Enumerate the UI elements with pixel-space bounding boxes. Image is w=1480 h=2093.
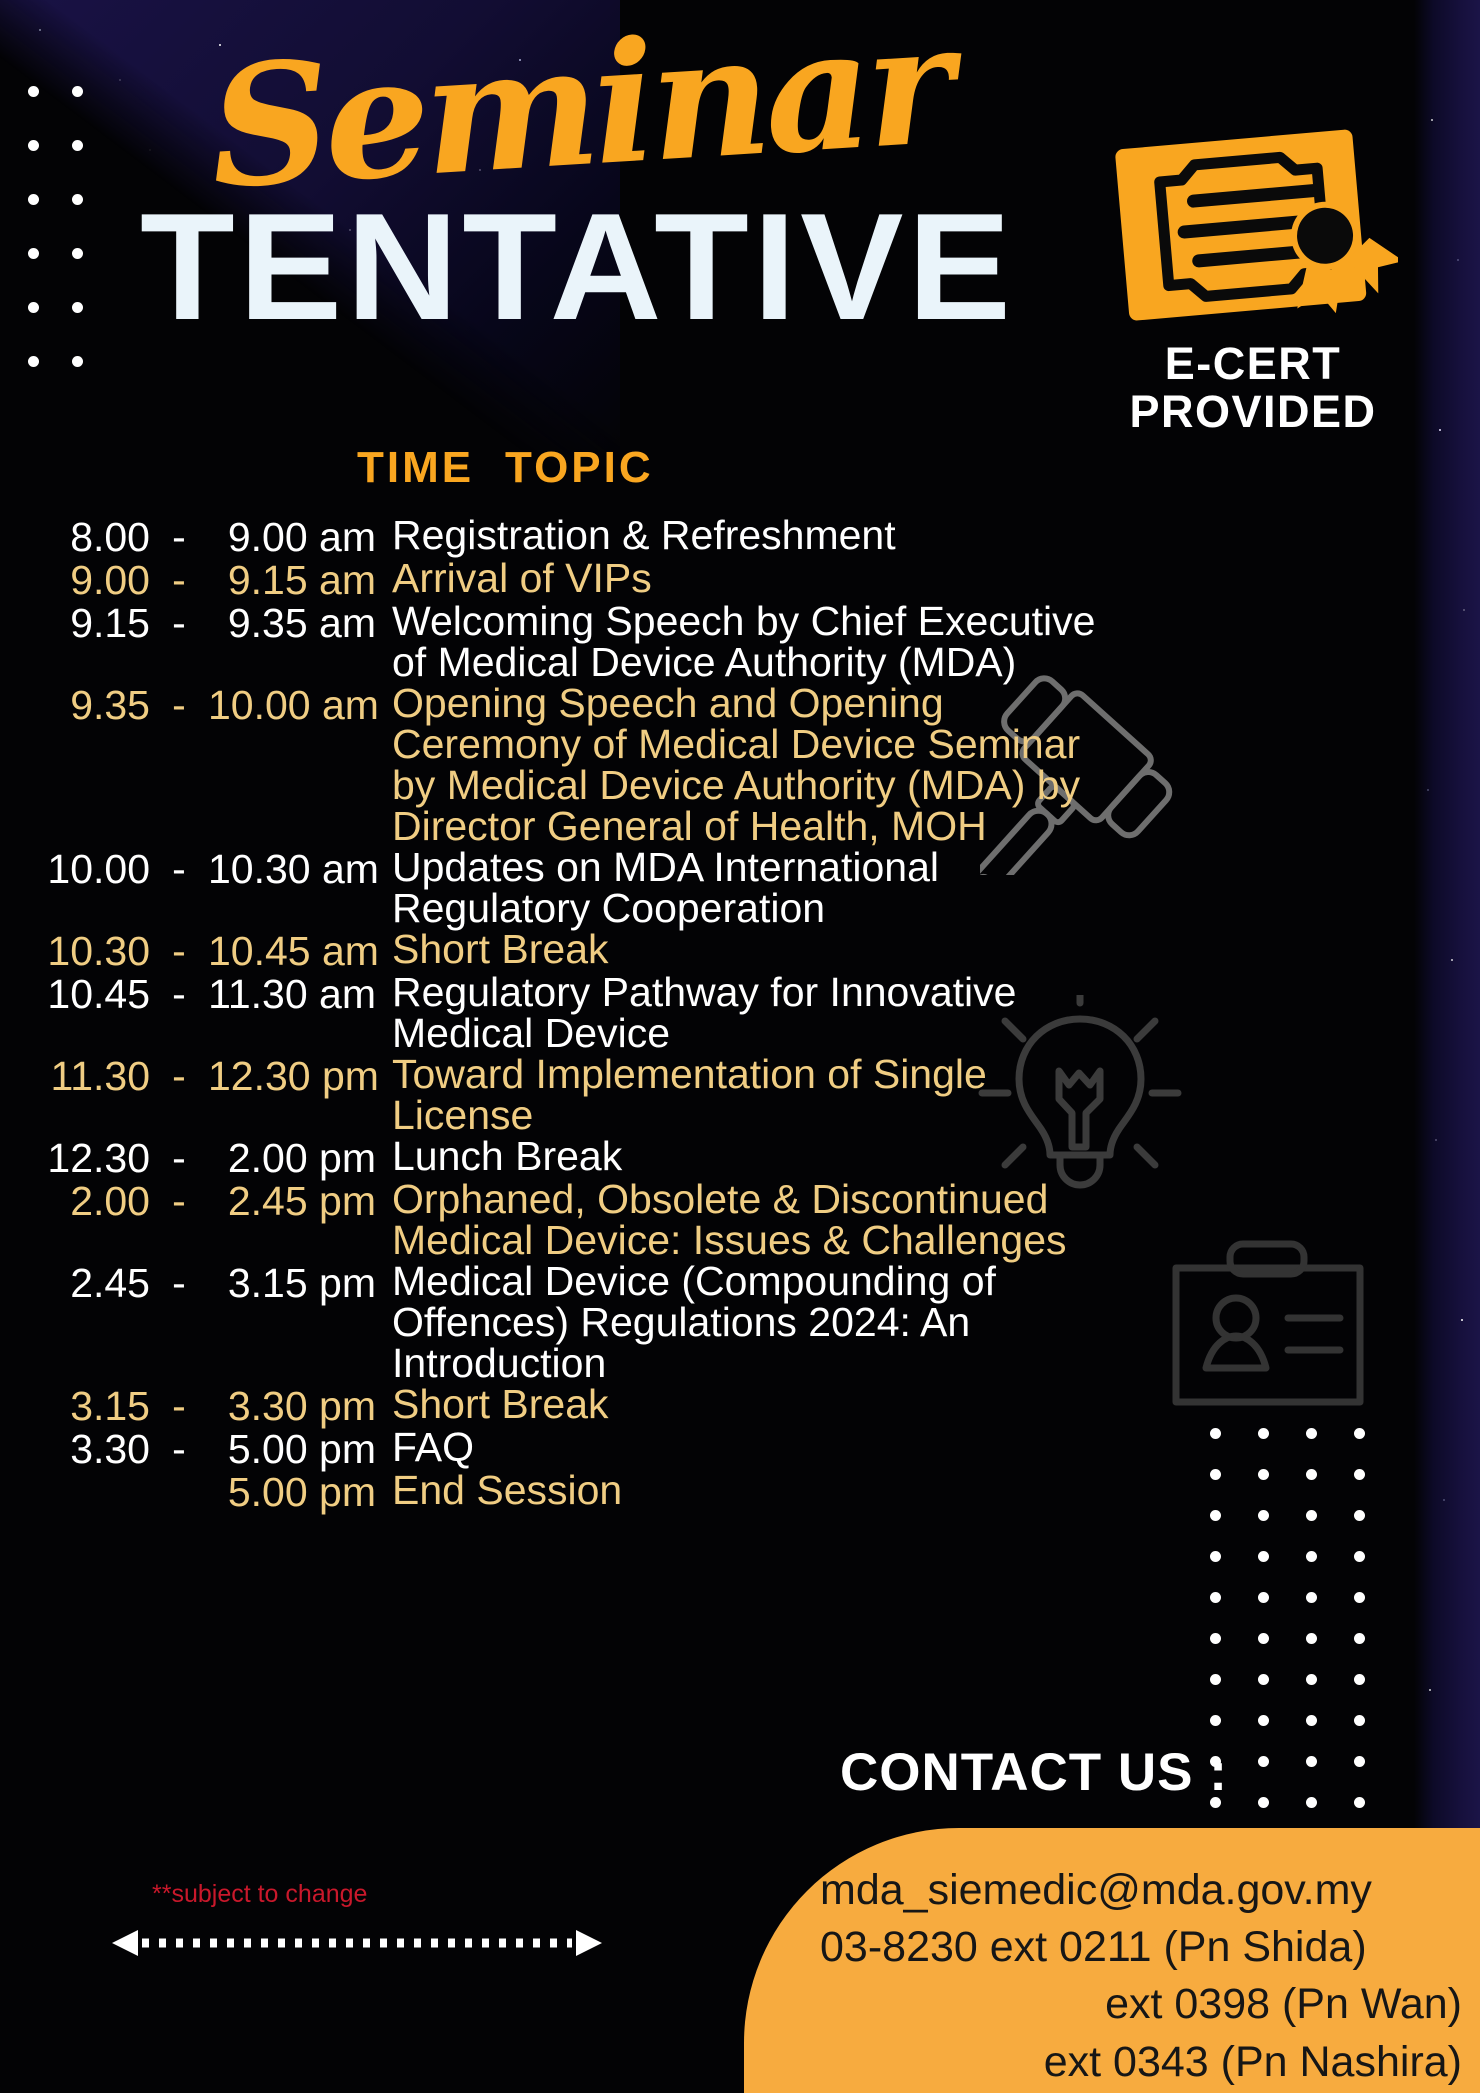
time-start: 9.15 [0, 603, 150, 644]
dot [1210, 1551, 1221, 1562]
schedule-row-time: 8.00-9.00 am [0, 515, 392, 558]
contact-phone[interactable]: 03-8230 ext 0211 (Pn Shida) [820, 1919, 1470, 1976]
time-dash: - [150, 974, 208, 1015]
time-start: 9.00 [0, 560, 150, 601]
dot [28, 140, 39, 151]
schedule-row: 2.45-3.15 pmMedical Device (Compounding … [0, 1261, 1480, 1384]
time-start: 3.15 [0, 1386, 150, 1427]
schedule-row-topic: Short Break [392, 1384, 1480, 1425]
topic-line: Medical Device (Compounding of [392, 1261, 1440, 1302]
dot-grid-left [28, 86, 116, 410]
schedule-row-topic: Opening Speech and OpeningCeremony of Me… [392, 683, 1480, 847]
schedule-row-topic: Arrival of VIPs [392, 558, 1480, 599]
dot [1210, 1674, 1221, 1685]
dot [1354, 1715, 1365, 1726]
dot [1258, 1592, 1269, 1603]
schedule-row-time: 3.15-3.30 pm [0, 1384, 392, 1427]
time-end: 10.00 am [208, 685, 392, 726]
ecert-badge: E-CERT PROVIDED [1088, 122, 1418, 435]
time-end: 10.45 am [208, 931, 392, 972]
dot [1306, 1756, 1317, 1767]
schedule-row-time: 9.15-9.35 am [0, 601, 392, 644]
time-dash: - [150, 1056, 208, 1097]
dot [72, 194, 83, 205]
ecert-line-1: E-CERT [1088, 340, 1418, 388]
time-start: 10.30 [0, 931, 150, 972]
schedule-row: 9.15-9.35 amWelcoming Speech by Chief Ex… [0, 601, 1480, 683]
dot [72, 140, 83, 151]
time-end: 12.30 pm [208, 1056, 392, 1097]
time-dash: - [150, 1263, 208, 1304]
dot [1306, 1674, 1317, 1685]
dot [72, 302, 83, 313]
time-dash: - [150, 1386, 208, 1427]
script-title: Seminar [206, 2, 953, 213]
time-dash: - [150, 1181, 208, 1222]
time-start: 2.45 [0, 1263, 150, 1304]
topic-line: Regulatory Cooperation [392, 888, 1440, 929]
time-dash: - [150, 685, 208, 726]
subject-to-change-note: **subject to change [152, 1880, 367, 1909]
schedule-row-time: 10.30-10.45 am [0, 929, 392, 972]
schedule-row-time: 12.30-2.00 pm [0, 1136, 392, 1179]
schedule-row: 3.15-3.30 pmShort Break [0, 1384, 1480, 1427]
schedule-row-topic: Welcoming Speech by Chief Executiveof Me… [392, 601, 1480, 683]
topic-line: Opening Speech and Opening [392, 683, 1440, 724]
topic-line: Short Break [392, 929, 1440, 970]
dot [1306, 1715, 1317, 1726]
topic-line: Short Break [392, 1384, 1440, 1425]
topic-line: Medical Device [392, 1013, 1440, 1054]
column-header-topic: TOPIC [505, 443, 654, 493]
schedule-row-topic: FAQ [392, 1427, 1480, 1468]
schedule-row: 8.00-9.00 amRegistration & Refreshment [0, 515, 1480, 558]
dot [28, 356, 39, 367]
dot [72, 86, 83, 97]
schedule-table: 8.00-9.00 amRegistration & Refreshment9.… [0, 515, 1480, 1513]
contact-ext-nashira[interactable]: ext 0343 (Pn Nashira) [820, 2034, 1470, 2091]
schedule-row-time: 2.45-3.15 pm [0, 1261, 392, 1304]
dot [1306, 1592, 1317, 1603]
topic-line: Lunch Break [392, 1136, 1440, 1177]
topic-line: Toward Implementation of Single [392, 1054, 1440, 1095]
schedule-row-topic: Registration & Refreshment [392, 515, 1480, 556]
column-header-time: TIME [357, 443, 474, 493]
time-end: 3.15 pm [208, 1263, 392, 1304]
topic-line: Updates on MDA International [392, 847, 1440, 888]
time-start: 11.30 [0, 1056, 150, 1097]
time-end: 2.45 pm [208, 1181, 392, 1222]
time-end: 11.30 am [208, 974, 392, 1015]
dot [1210, 1633, 1221, 1644]
schedule-row-time: 9.35-10.00 am [0, 683, 392, 726]
dot [1258, 1674, 1269, 1685]
schedule-row: 9.00-9.15 amArrival of VIPs [0, 558, 1480, 601]
dot [1258, 1797, 1269, 1808]
schedule-row: 10.45-11.30 amRegulatory Pathway for Inn… [0, 972, 1480, 1054]
time-end: 5.00 pm [208, 1472, 392, 1513]
schedule-row-time: 9.00-9.15 am [0, 558, 392, 601]
topic-line: of Medical Device Authority (MDA) [392, 642, 1440, 683]
dot [1306, 1633, 1317, 1644]
schedule-row-topic: Medical Device (Compounding ofOffences) … [392, 1261, 1480, 1384]
topic-line: Offences) Regulations 2024: An [392, 1302, 1440, 1343]
time-dash: - [150, 1429, 208, 1470]
schedule-row-time: 2.00-2.45 pm [0, 1179, 392, 1222]
topic-line: Medical Device: Issues & Challenges [392, 1220, 1440, 1261]
dot [1354, 1674, 1365, 1685]
dot [28, 248, 39, 259]
time-start: 2.00 [0, 1181, 150, 1222]
schedule-row: 2.00-2.45 pmOrphaned, Obsolete & Discont… [0, 1179, 1480, 1261]
time-dash: - [150, 560, 208, 601]
topic-line: Regulatory Pathway for Innovative [392, 972, 1440, 1013]
dot [1210, 1592, 1221, 1603]
schedule-row-topic: Orphaned, Obsolete & DiscontinuedMedical… [392, 1179, 1480, 1261]
time-end: 9.35 am [208, 603, 392, 644]
time-dash: - [150, 931, 208, 972]
dot [1354, 1551, 1365, 1562]
schedule-row: 11.30-12.30 pmToward Implementation of S… [0, 1054, 1480, 1136]
schedule-row-topic: Toward Implementation of SingleLicense [392, 1054, 1480, 1136]
dot [28, 302, 39, 313]
schedule-row-topic: End Session [392, 1470, 1480, 1511]
time-start: 10.00 [0, 849, 150, 890]
time-dash: - [150, 517, 208, 558]
contact-ext-wan[interactable]: ext 0398 (Pn Wan) [820, 1976, 1470, 2033]
dot [1258, 1715, 1269, 1726]
certificate-icon [1088, 122, 1418, 332]
schedule-row: 12.30-2.00 pmLunch Break [0, 1136, 1480, 1179]
time-dash: - [150, 603, 208, 644]
time-start: 12.30 [0, 1138, 150, 1179]
time-end: 10.30 am [208, 849, 392, 890]
dotted-arrow-divider [112, 1930, 602, 1956]
schedule-row: 5.00 pmEnd Session [0, 1470, 1480, 1513]
time-end: 2.00 pm [208, 1138, 392, 1179]
schedule-row-time: 10.00-10.30 am [0, 847, 392, 890]
time-end: 9.15 am [208, 560, 392, 601]
dot [1306, 1551, 1317, 1562]
dot [1306, 1797, 1317, 1808]
time-start: 10.45 [0, 974, 150, 1015]
topic-line: Ceremony of Medical Device Seminar [392, 724, 1440, 765]
topic-line: License [392, 1095, 1440, 1136]
time-start: 3.30 [0, 1429, 150, 1470]
time-end: 5.00 pm [208, 1429, 392, 1470]
contact-panel: mda_siemedic@mda.gov.my 03-8230 ext 0211… [744, 1828, 1480, 2093]
dot [1354, 1592, 1365, 1603]
topic-line: Introduction [392, 1343, 1440, 1384]
topic-line: Welcoming Speech by Chief Executive [392, 601, 1440, 642]
dot [1210, 1715, 1221, 1726]
dot [28, 86, 39, 97]
time-start: 9.35 [0, 685, 150, 726]
dot [1258, 1756, 1269, 1767]
dot [72, 248, 83, 259]
dot [1258, 1551, 1269, 1562]
schedule-row: 10.30-10.45 amShort Break [0, 929, 1480, 972]
topic-line: Registration & Refreshment [392, 515, 1440, 556]
schedule-row-topic: Updates on MDA InternationalRegulatory C… [392, 847, 1480, 929]
schedule-row-time: 5.00 pm [0, 1470, 392, 1513]
time-dash: - [150, 849, 208, 890]
topic-line: Director General of Health, MOH [392, 806, 1440, 847]
time-dash: - [150, 1138, 208, 1179]
dot [1258, 1633, 1269, 1644]
dot [72, 356, 83, 367]
schedule-row-topic: Short Break [392, 929, 1480, 970]
topic-line: FAQ [392, 1427, 1440, 1468]
time-end: 3.30 pm [208, 1386, 392, 1427]
contact-email[interactable]: mda_siemedic@mda.gov.my [820, 1862, 1470, 1919]
schedule-row: 3.30-5.00 pmFAQ [0, 1427, 1480, 1470]
time-start: 8.00 [0, 517, 150, 558]
schedule-row-topic: Regulatory Pathway for InnovativeMedical… [392, 972, 1480, 1054]
topic-line: by Medical Device Authority (MDA) by [392, 765, 1440, 806]
topic-line: End Session [392, 1470, 1440, 1511]
dot [1354, 1797, 1365, 1808]
topic-line: Arrival of VIPs [392, 558, 1440, 599]
schedule-row: 10.00-10.30 amUpdates on MDA Internation… [0, 847, 1480, 929]
schedule-row-time: 11.30-12.30 pm [0, 1054, 392, 1097]
schedule-row-time: 10.45-11.30 am [0, 972, 392, 1015]
time-end: 9.00 am [208, 517, 392, 558]
dot [1354, 1756, 1365, 1767]
topic-line: Orphaned, Obsolete & Discontinued [392, 1179, 1440, 1220]
schedule-row: 9.35-10.00 amOpening Speech and OpeningC… [0, 683, 1480, 847]
schedule-row-time: 3.30-5.00 pm [0, 1427, 392, 1470]
contact-title: CONTACT US : [840, 1742, 1228, 1803]
schedule-row-topic: Lunch Break [392, 1136, 1480, 1177]
ecert-line-2: PROVIDED [1088, 388, 1418, 436]
dot [28, 194, 39, 205]
dot [1354, 1633, 1365, 1644]
